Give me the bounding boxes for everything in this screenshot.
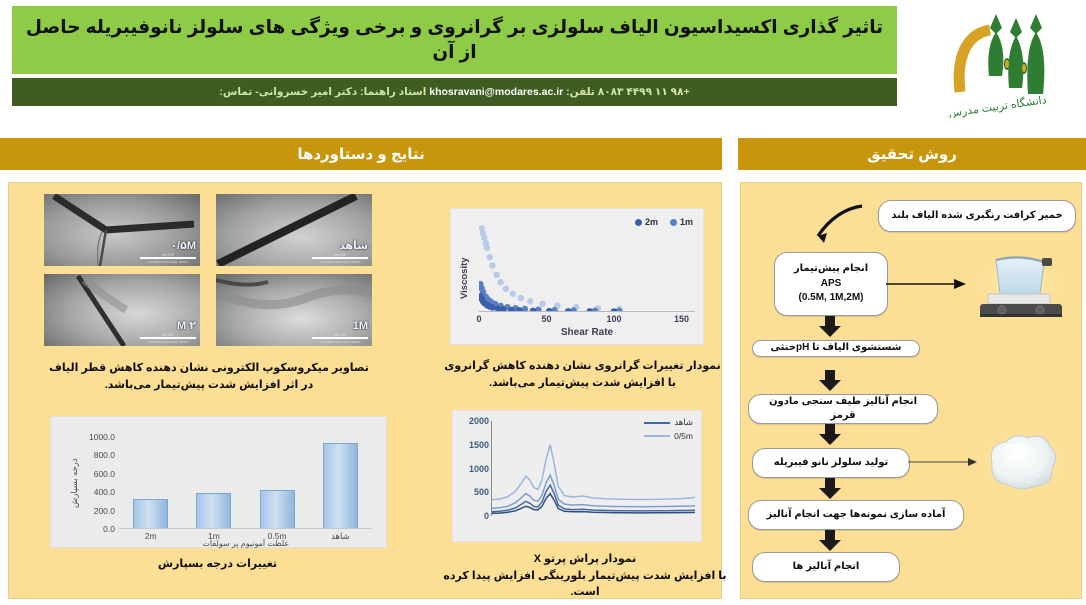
flow-step-label-multiline: انجام پیش‌تیمار APS (0.5M, 1M,2M) xyxy=(788,262,874,306)
poster-title-band: تاثیر گذاری اکسیداسیون الیاف سلولزی بر گ… xyxy=(12,6,897,74)
tem-scale-bottom: HV=200kV Direct Mag: 60000x xyxy=(312,260,368,264)
flow-step-label: خمیر کرافت رنگبری شده الیاف بلند xyxy=(885,209,1068,224)
xrd-y-tick: 0 xyxy=(484,511,489,521)
university-logo: دانشگاه تربیت مدرس xyxy=(900,6,1082,118)
flow-step-ftir-analysis[interactable]: انجام آنالیز طیف سنجی مادون قرمز xyxy=(748,394,938,424)
xrd-caption: نمودار پراش پرتو X با افزایش شدت پیش‌تیم… xyxy=(440,551,730,601)
flow-step-label-line1: انجام پیش‌تیمار xyxy=(794,263,868,274)
viscosity-scatter-chart: 2m1m Viscosity 050100150 Shear Rate xyxy=(450,208,704,345)
xrd-y-tick: 2000 xyxy=(469,416,489,426)
flow-arrow-to-stirrer-icon xyxy=(886,278,968,290)
viscosity-data-point xyxy=(518,295,524,301)
flow-arrow-down-5-icon xyxy=(816,530,844,552)
bar-chart-y-tick: 200.0 xyxy=(94,506,115,516)
bar-chart-bar xyxy=(196,493,231,530)
flow-step-label: انجام آنالیز ها xyxy=(787,560,866,575)
flow-step-washing[interactable]: شستشوی الیاف تا pHخنثی xyxy=(752,340,920,357)
viscosity-plot-area xyxy=(479,219,695,312)
bar-chart-bar xyxy=(323,443,358,529)
flow-step-raw-pulp[interactable]: خمیر کرافت رنگبری شده الیاف بلند xyxy=(878,200,1076,232)
method-panel xyxy=(740,182,1082,599)
logo-caption-text: دانشگاه تربیت مدرس xyxy=(948,93,1048,118)
tem-image-2m: ۲ M 100 nm HV=200kV Direct Mag: 60000x xyxy=(44,274,200,346)
viscosity-data-point xyxy=(489,262,495,268)
poster-root: تاثیر گذاری اکسیداسیون الیاف سلولزی بر گ… xyxy=(0,0,1086,605)
xrd-y-ticks: 0500100015002000 xyxy=(457,421,489,516)
viscosity-data-point xyxy=(497,279,503,285)
xrd-series-line xyxy=(491,445,695,500)
flow-step-run-analyses[interactable]: انجام آنالیز ها xyxy=(752,552,900,582)
viscosity-x-tick: 150 xyxy=(674,314,689,324)
flow-arrow-down-1-icon xyxy=(816,316,844,338)
viscosity-data-point xyxy=(481,234,487,240)
bar-chart-bar xyxy=(260,490,295,529)
viscosity-x-axis-label: Shear Rate xyxy=(479,327,695,338)
section-title-method: روش تحقیق xyxy=(867,145,957,163)
viscosity-data-point xyxy=(489,304,495,310)
section-title-results: نتایج و دستاوردها xyxy=(297,145,424,163)
tem-scale-bar: 100 nm HV=200kV Direct Mag: 60000x xyxy=(140,333,196,344)
tem-caption-line1: تصاویر میکروسکوپ الکترونی نشان دهنده کاه… xyxy=(44,360,374,377)
bar-chart-bars xyxy=(119,437,372,529)
bar-chart-y-ticks: 0.0200.0400.0600.0800.01000.0 xyxy=(81,437,115,529)
tem-label: شاهد xyxy=(339,239,368,252)
viscosity-data-point xyxy=(503,286,509,292)
viscosity-data-point xyxy=(484,245,490,251)
xrd-y-tick: 1500 xyxy=(469,440,489,450)
phone-number: +۹۸ ۱۱ ۴۴۹۹ ۸۰۸۳ xyxy=(598,86,690,98)
flow-step-label-line3: (0.5M, 1M,2M) xyxy=(798,291,863,306)
viscosity-x-tick: 0 xyxy=(476,314,481,324)
tem-scale-bottom: HV=200kV Direct Mag: 60000x xyxy=(140,260,196,264)
xrd-y-tick: 500 xyxy=(474,487,489,497)
xrd-y-axis xyxy=(491,421,492,516)
xrd-y-tick: 1000 xyxy=(469,464,489,474)
viscosity-x-axis xyxy=(479,311,695,312)
bar-chart-y-tick: 400.0 xyxy=(94,487,115,497)
viscosity-x-ticks: 050100150 xyxy=(479,314,695,326)
bar-chart-x-axis-label: غلظت آمونیوم پر سولفات xyxy=(119,539,372,548)
bar-chart-column xyxy=(182,437,245,529)
tem-label: 1M xyxy=(353,320,368,332)
flow-step-label: تولید سلولز نانو فیبریله xyxy=(768,456,895,471)
flow-curved-arrow-icon xyxy=(806,202,866,250)
tem-caption: تصاویر میکروسکوپ الکترونی نشان دهنده کاه… xyxy=(44,360,374,393)
bar-chart-bar xyxy=(133,499,168,529)
bar-chart-caption: تغییرات درجه بسپارش xyxy=(50,556,385,573)
tem-image-1m: 1M 100 nm HV=200kV Direct Mag: 60000x xyxy=(216,274,372,346)
flow-step-pretreatment[interactable]: انجام پیش‌تیمار APS (0.5M, 1M,2M) xyxy=(774,252,888,316)
tem-scale-bar: 100 nm HV=200kV Direct Mag: 60000x xyxy=(312,253,368,264)
xrd-caption-line1: نمودار پراش پرتو X xyxy=(440,551,730,568)
tem-caption-line2: در اثر افزایش شدت پیش‌تیمار می‌باشد. xyxy=(44,377,374,394)
viscosity-x-tick: 50 xyxy=(541,314,551,324)
xrd-plot-area xyxy=(491,421,695,516)
xrd-caption-line2: با افزایش شدت پیش‌تیمار بلورینگی افزایش … xyxy=(440,568,730,601)
flow-step-nanocellulose-production[interactable]: تولید سلولز نانو فیبریله xyxy=(752,448,910,478)
bar-chart: درجه بسپارش 0.0200.0400.0600.0800.01000.… xyxy=(50,416,387,548)
tem-scale-bottom: HV=200kV Direct Mag: 60000x xyxy=(312,340,368,344)
flow-step-label: آماده سازی نمونه‌ها جهت انجام آنالیز xyxy=(761,508,952,523)
bar-chart-y-tick: 800.0 xyxy=(94,450,115,460)
flow-step-sample-preparation[interactable]: آماده سازی نمونه‌ها جهت انجام آنالیز xyxy=(748,500,964,530)
flow-step-label-line2: APS xyxy=(821,277,842,292)
bar-chart-x-axis xyxy=(119,528,372,529)
tem-image-grid: ۰/۵M 100 nm HV=200kV Direct Mag: 60000x … xyxy=(44,194,374,346)
tem-label: ۲ M xyxy=(177,319,196,332)
xrd-line-chart: 0500100015002000 شاهد0/5m xyxy=(452,410,702,542)
viscosity-caption-line2: با افزایش شدت پیش‌تیمار می‌باشد. xyxy=(440,375,725,392)
contact-band: +۹۸ ۱۱ ۴۴۹۹ ۸۰۸۳ تلفن: khosravani@modare… xyxy=(12,78,897,106)
tem-scale-bar: 100 nm HV=200kV Direct Mag: 60000x xyxy=(312,333,368,344)
tem-scale-bar: 100 nm HV=200kV Direct Mag: 60000x xyxy=(140,253,196,264)
magnetic-stirrer-beaker-photo xyxy=(966,250,1074,320)
viscosity-x-tick: 100 xyxy=(606,314,621,324)
flow-step-label: شستشوی الیاف تا pHخنثی xyxy=(764,341,907,356)
viscosity-caption-line1: نمودار تغییرات گرانروی نشان دهنده کاهش گ… xyxy=(440,358,725,375)
phone-label: تلفن: xyxy=(566,86,595,98)
flow-step-label: انجام آنالیز طیف سنجی مادون قرمز xyxy=(749,395,937,424)
bar-chart-column xyxy=(246,437,309,529)
advisor-label: استاد راهنما: دکتر امیر خسروانی- تماس: xyxy=(219,86,426,98)
flow-arrow-down-3-icon xyxy=(816,424,844,446)
contact-line: +۹۸ ۱۱ ۴۴۹۹ ۸۰۸۳ تلفن: khosravani@modare… xyxy=(219,86,689,98)
tem-scale-bottom: HV=200kV Direct Mag: 60000x xyxy=(140,340,196,344)
nanocellulose-gel-photo xyxy=(976,428,1070,496)
viscosity-data-point xyxy=(527,298,533,304)
tem-image-control: شاهد 100 nm HV=200kV Direct Mag: 60000x xyxy=(216,194,372,266)
bar-chart-column xyxy=(309,437,372,529)
bar-chart-y-tick: 0.0 xyxy=(103,524,115,534)
contact-email[interactable]: khosravani@modares.ac.ir xyxy=(429,86,563,98)
bar-chart-plot-area xyxy=(119,437,372,529)
flow-arrow-down-2-icon xyxy=(816,370,844,392)
bar-chart-column xyxy=(119,437,182,529)
flow-arrow-down-4-icon xyxy=(816,478,844,500)
bar-chart-y-tick: 600.0 xyxy=(94,469,115,479)
viscosity-y-axis-label: Viscosity xyxy=(459,239,473,317)
viscosity-data-point xyxy=(487,254,493,260)
flow-arrow-to-gel-icon xyxy=(908,456,980,468)
section-header-method: روش تحقیق xyxy=(738,138,1086,170)
tem-label: ۰/۵M xyxy=(170,239,196,252)
poster-title: تاثیر گذاری اکسیداسیون الیاف سلولزی بر گ… xyxy=(12,15,897,65)
tem-image-0_5m: ۰/۵M 100 nm HV=200kV Direct Mag: 60000x xyxy=(44,194,200,266)
viscosity-data-point xyxy=(493,272,499,278)
viscosity-data-point xyxy=(510,291,516,297)
bar-chart-y-tick: 1000.0 xyxy=(89,432,115,442)
viscosity-data-point xyxy=(539,301,545,307)
viscosity-caption: نمودار تغییرات گرانروی نشان دهنده کاهش گ… xyxy=(440,358,725,391)
section-header-results: نتایج و دستاوردها xyxy=(0,138,722,170)
